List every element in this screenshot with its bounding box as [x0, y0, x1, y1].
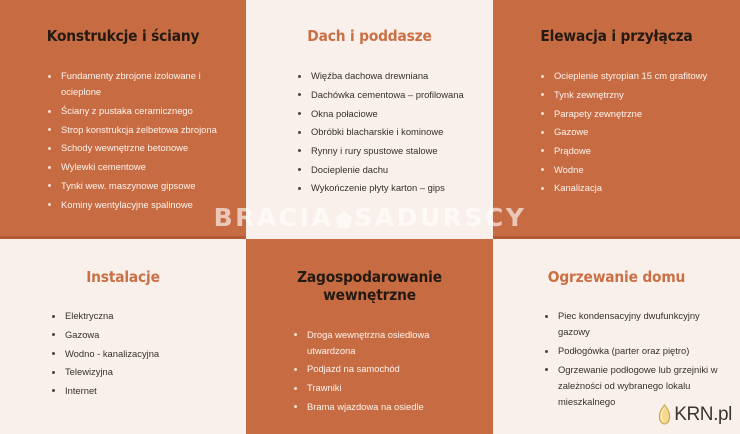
- panel-list-instalacje: ElektrycznaGazowaWodno - kanalizacyjnaTe…: [16, 308, 230, 399]
- panel-elewacja-i-przylacza: Elewacja i przyłączaOcieplenie styropian…: [493, 0, 740, 239]
- list-item: Kominy wentylacyjne spalinowe: [48, 197, 230, 213]
- house-droplet-icon: [656, 404, 673, 426]
- list-item: Kanalizacja: [541, 180, 724, 196]
- list-item: Tynki wew. maszynowe gipsowe: [48, 178, 230, 194]
- list-item: Ocieplenie styropian 15 cm grafitowy: [541, 68, 724, 84]
- list-item: Wykończenie płyty karton – gips: [298, 180, 477, 196]
- list-item: Parapety zewnętrzne: [541, 106, 724, 122]
- panel-title-elewacja-i-przylacza: Elewacja i przyłącza: [518, 0, 716, 45]
- list-item: Tynk zewnętrzny: [541, 87, 724, 103]
- feature-grid-poster: Konstrukcje i ścianyFundamenty zbrojone …: [0, 0, 740, 434]
- list-item: Gazowe: [541, 124, 724, 140]
- list-item: Droga wewnętrzna osiedlowa utwardzona: [294, 327, 477, 359]
- list-item: Gazowa: [52, 327, 230, 343]
- list-item: Trawniki: [294, 380, 477, 396]
- list-item: Prądowe: [541, 143, 724, 159]
- panel-dach-i-poddasze: Dach i poddaszeWięźba dachowa drewnianaD…: [246, 0, 493, 239]
- list-item: Więźba dachowa drewniana: [298, 68, 477, 84]
- list-item: Wylewki cementowe: [48, 159, 230, 175]
- panel-title-ogrzewanie-domu: Ogrzewanie domu: [518, 239, 716, 286]
- krn-pl-logo[interactable]: KRN.pl: [656, 404, 732, 426]
- panel-title-instalacje: Instalacje: [25, 239, 222, 286]
- panel-konstrukcje-i-sciany: Konstrukcje i ścianyFundamenty zbrojone …: [0, 0, 246, 239]
- list-item: Internet: [52, 383, 230, 399]
- panel-title-konstrukcje-i-sciany: Konstrukcje i ściany: [25, 0, 222, 45]
- list-item: Docieplenie dachu: [298, 162, 477, 178]
- panel-list-zagospodarowanie-wewnetrzne: Droga wewnętrzna osiedlowa utwardzonaPod…: [262, 327, 477, 415]
- panel-instalacje: InstalacjeElektrycznaGazowaWodno - kanal…: [0, 239, 246, 434]
- list-item: Rynny i rury spustowe stalowe: [298, 143, 477, 159]
- panel-list-konstrukcje-i-sciany: Fundamenty zbrojone izolowane i ocieplon…: [16, 68, 230, 212]
- list-item: Podłogówka (parter oraz piętro): [545, 343, 724, 359]
- list-item: Wodne: [541, 162, 724, 178]
- panel-zagospodarowanie-wewnetrzne: Zagospodarowanie wewnętrzneDroga wewnętr…: [246, 239, 493, 434]
- panel-list-ogrzewanie-domu: Piec kondensacyjny dwufunkcyjny gazowyPo…: [509, 308, 724, 410]
- list-item: Wodno - kanalizacyjna: [52, 346, 230, 362]
- list-item: Piec kondensacyjny dwufunkcyjny gazowy: [545, 308, 724, 340]
- list-item: Obróbki blacharskie i kominowe: [298, 124, 477, 140]
- list-item: Ściany z pustaka ceramicznego: [48, 103, 230, 119]
- panel-list-elewacja-i-przylacza: Ocieplenie styropian 15 cm grafitowyTynk…: [509, 68, 724, 196]
- panel-title-zagospodarowanie-wewnetrzne: Zagospodarowanie wewnętrzne: [271, 239, 469, 305]
- list-item: Telewizyjna: [52, 364, 230, 380]
- list-item: Brama wjazdowa na osiedle: [294, 399, 477, 415]
- list-item: Fundamenty zbrojone izolowane i ocieplon…: [48, 68, 230, 100]
- panel-list-dach-i-poddasze: Więźba dachowa drewnianaDachówka cemento…: [262, 68, 477, 196]
- list-item: Strop konstrukcja żelbetowa zbrojona: [48, 122, 230, 138]
- list-item: Dachówka cementowa – profilowana: [298, 87, 477, 103]
- list-item: Podjazd na samochód: [294, 361, 477, 377]
- panel-title-dach-i-poddasze: Dach i poddasze: [271, 0, 469, 45]
- list-item: Okna połaciowe: [298, 106, 477, 122]
- list-item: Elektryczna: [52, 308, 230, 324]
- list-item: Schody wewnętrzne betonowe: [48, 140, 230, 156]
- krn-logo-text: KRN.pl: [674, 404, 732, 426]
